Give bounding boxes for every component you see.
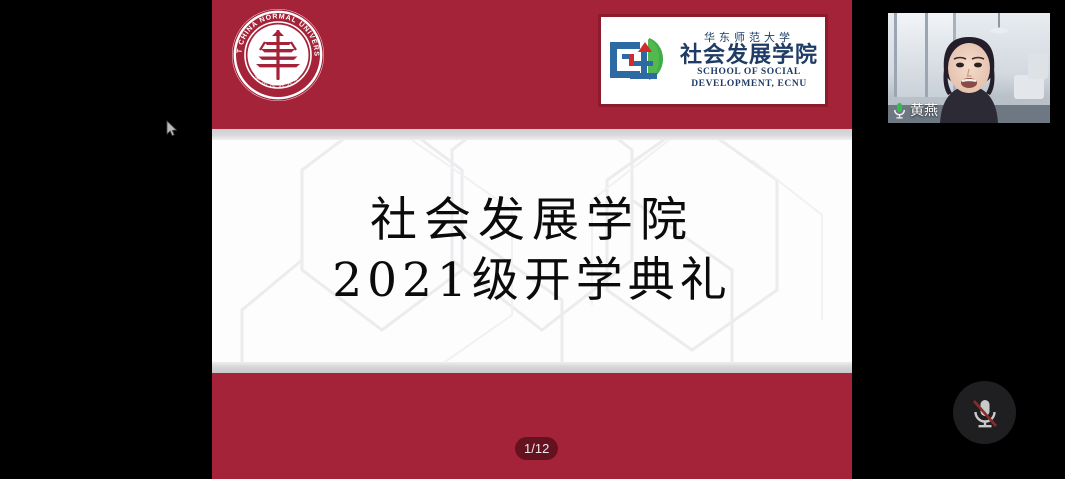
microphone-on-icon <box>893 102 906 119</box>
page-indicator: 1/12 <box>515 437 558 460</box>
mouse-cursor-arrow <box>166 120 178 138</box>
mute-toggle-button[interactable] <box>953 381 1016 444</box>
microphone-muted-icon <box>968 396 1002 430</box>
screen-share-viewer: EAST CHINA NORMAL UNIVERSITY 华东师范大学 <box>0 0 1065 479</box>
sosd-en-line2: DEVELOPMENT, ECNU <box>677 80 821 90</box>
ecnu-seal-icon: EAST CHINA NORMAL UNIVERSITY 华东师范大学 <box>231 8 325 102</box>
slide-title-line-1: 社会发展学院 <box>370 191 694 251</box>
school-of-social-development-logo: 华东师范大学 社会发展学院 SCHOOL OF SOCIAL DEVELOPME… <box>598 14 828 107</box>
slide-body: 社会发展学院 2021级开学典礼 <box>212 140 852 362</box>
slide-title-line-2: 2021级开学典礼 <box>332 251 732 311</box>
slide-divider-bottom <box>212 362 852 373</box>
shared-slide[interactable]: EAST CHINA NORMAL UNIVERSITY 华东师范大学 <box>212 0 852 479</box>
sosd-en-line1: SCHOOL OF SOCIAL <box>677 68 821 78</box>
participant-name-badge: 黄燕 <box>893 102 938 119</box>
participant-video-tile[interactable]: 黄燕 <box>888 13 1050 123</box>
slide-title-block: 社会发展学院 2021级开学典礼 <box>212 140 852 362</box>
slide-header-band: EAST CHINA NORMAL UNIVERSITY 华东师范大学 <box>212 0 852 129</box>
sosd-emblem-icon <box>607 30 673 92</box>
slide-footer-band: 1/12 <box>212 373 852 479</box>
sosd-cn-big-label: 社会发展学院 <box>677 44 821 66</box>
participant-name-label: 黄燕 <box>910 104 938 118</box>
slide-divider-top <box>212 129 852 140</box>
